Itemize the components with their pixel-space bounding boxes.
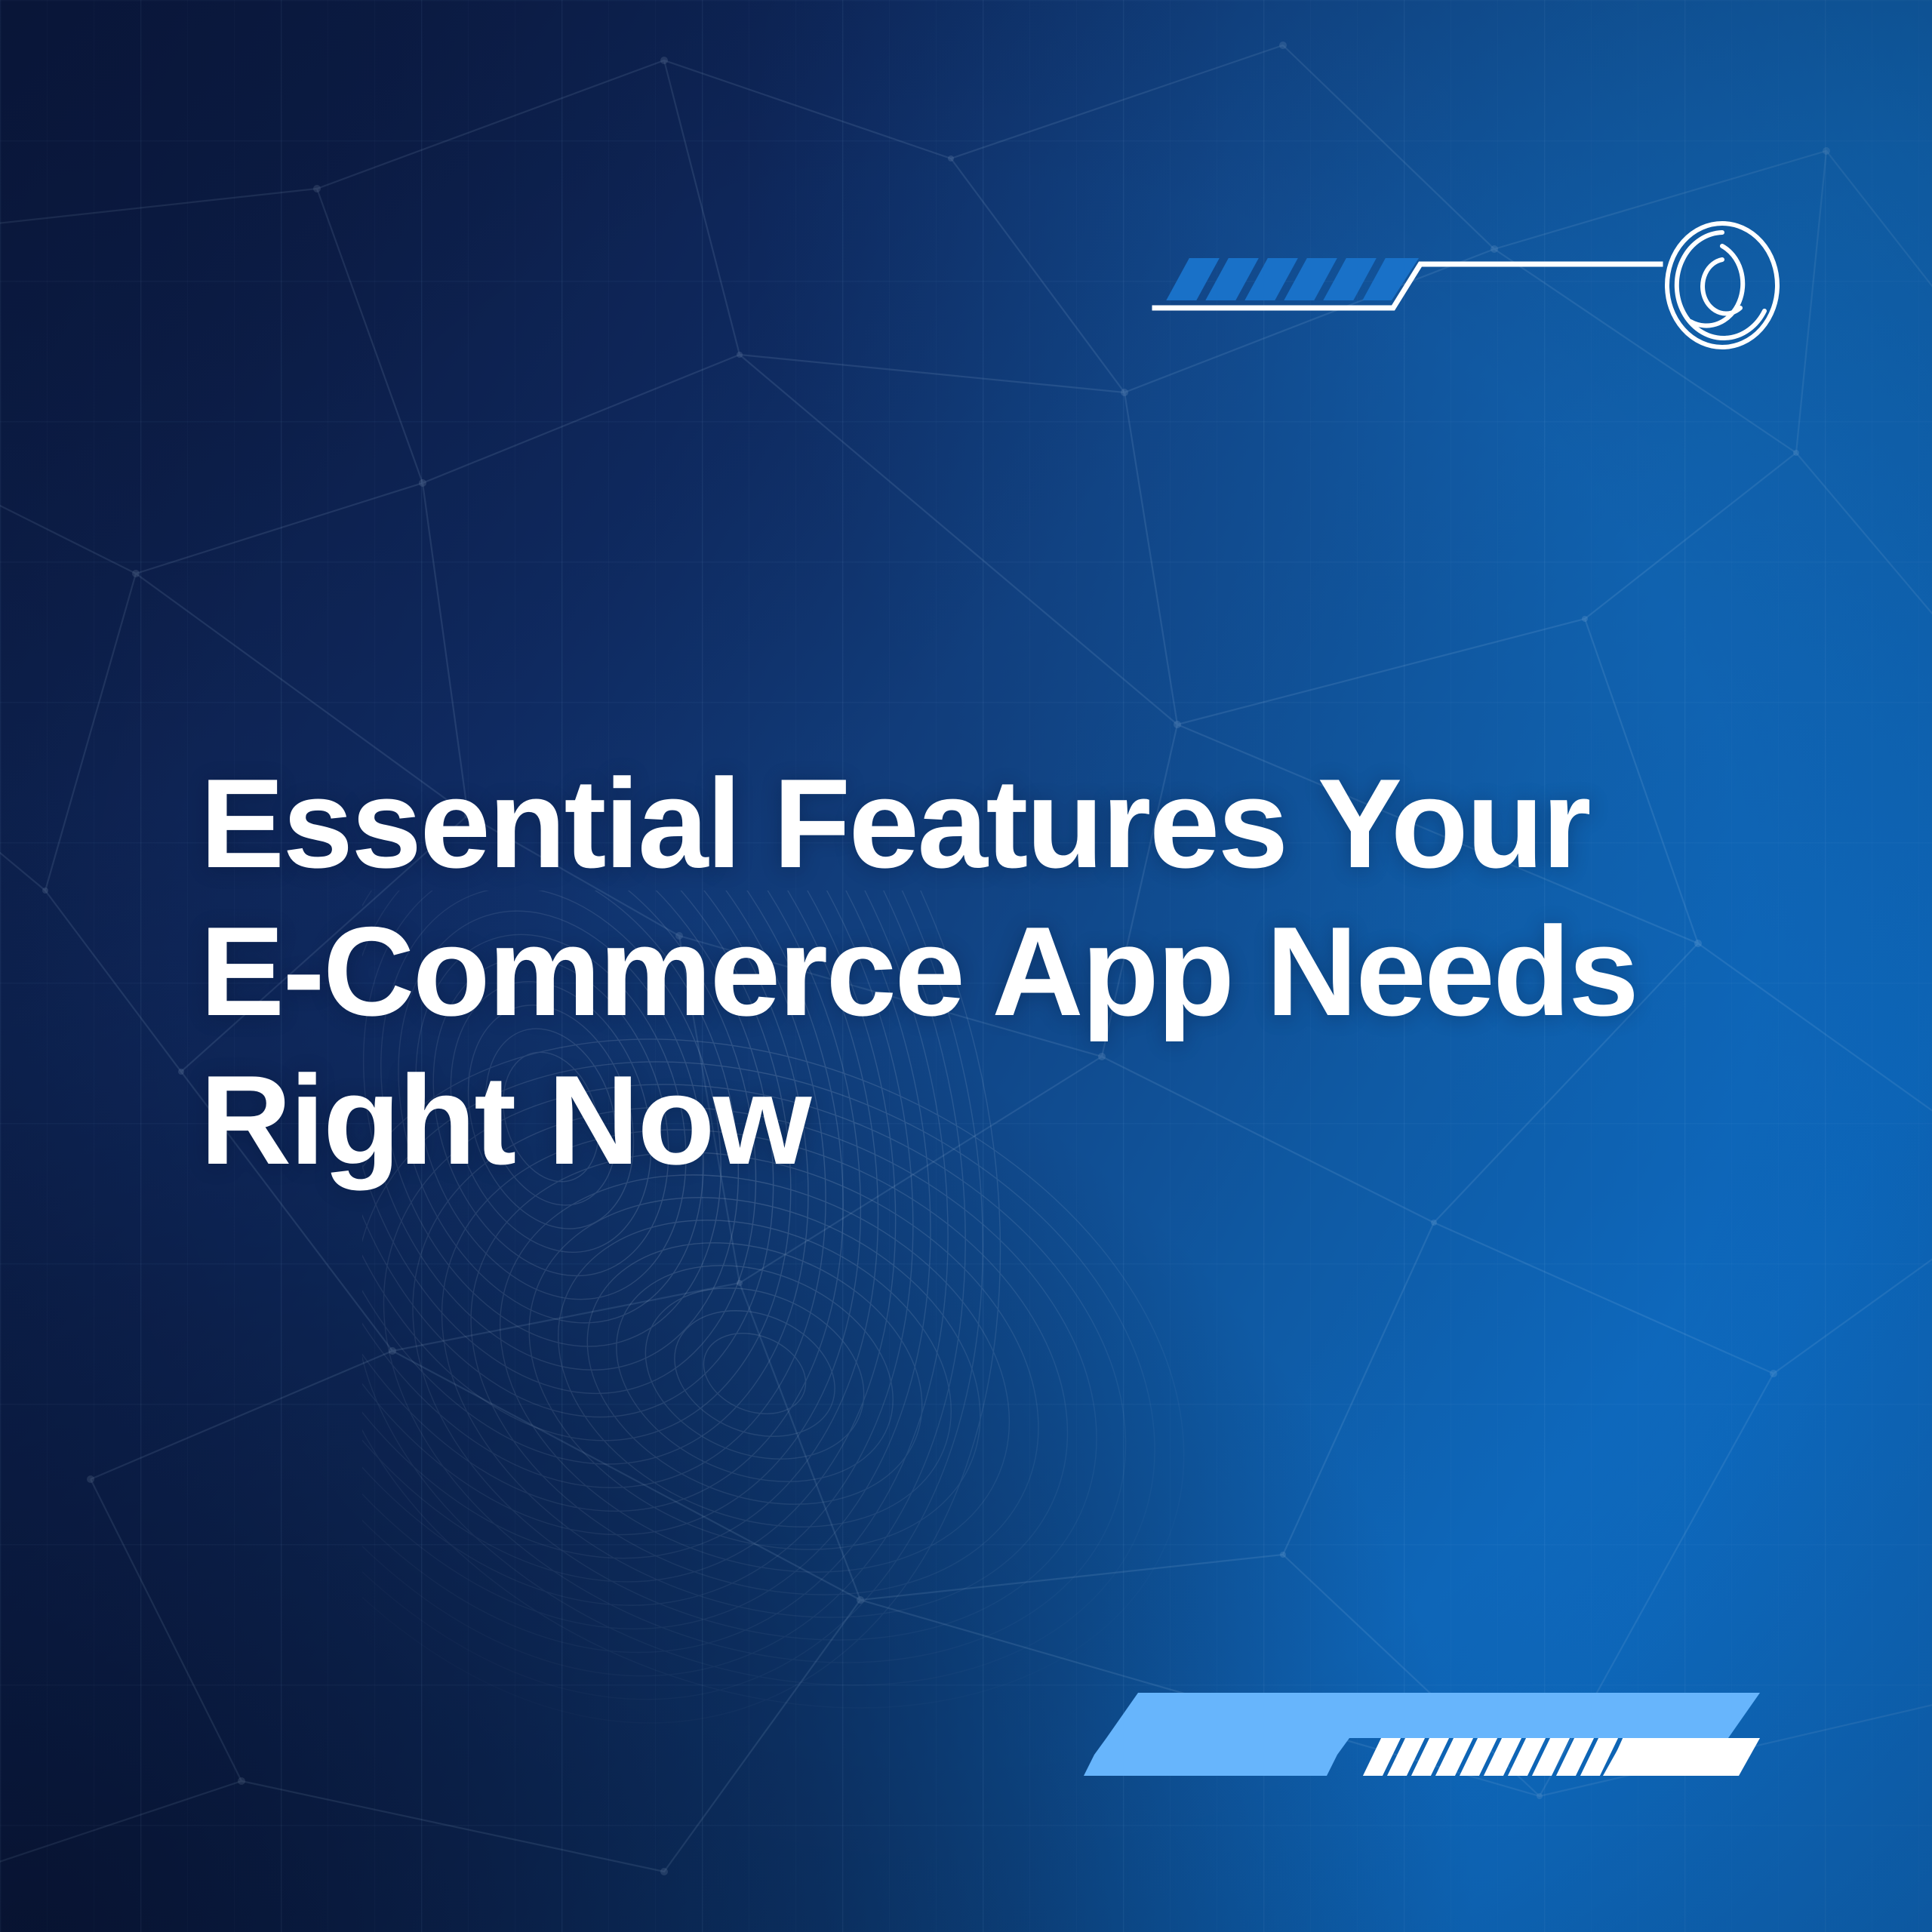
- hud-banner-bottom-right: [1041, 1657, 1796, 1807]
- light-blue-parallelogram-lower: [1094, 1738, 1349, 1755]
- light-blue-parallelogram: [1106, 1693, 1760, 1738]
- light-blue-parallelogram-foot: [1084, 1755, 1337, 1776]
- concentric-rings: [1667, 223, 1777, 347]
- diagonal-stripe-bar: [1132, 249, 1434, 314]
- hud-bracket-top-right: [1132, 211, 1811, 362]
- white-diagonal-stripes: [1361, 1735, 1645, 1779]
- poster-canvas: Essential Features Your E-Commerce App N…: [0, 0, 1932, 1932]
- page-title: Essential Features Your E-Commerce App N…: [200, 749, 1679, 1195]
- white-solid-block: [1603, 1738, 1760, 1776]
